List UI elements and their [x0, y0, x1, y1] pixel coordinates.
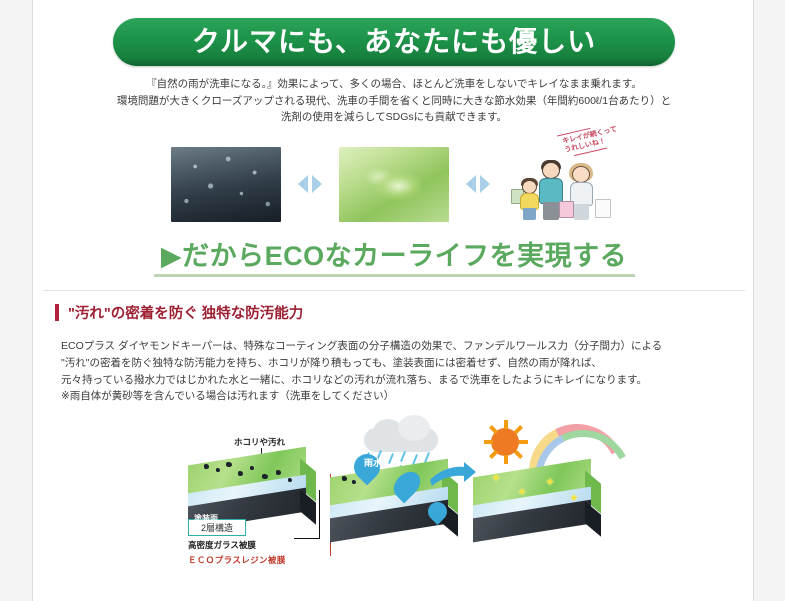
shopping-bag-white — [595, 199, 611, 218]
body-line-3: 元々持っている撥水力ではじかれた水と一緒に、ホコリなどの汚れが流れ落ち、まるで洗… — [61, 372, 741, 389]
section-divider — [43, 290, 745, 291]
diagram-panel-rain: 雨水 — [330, 428, 462, 588]
lead-paragraph: 『自然の雨が洗車になる。』効果によって、多くの場合、ほとんど洗車をしないでキレイ… — [33, 76, 754, 126]
section-body: ECOプラス ダイヤモンドキーパーは、特殊なコーティング表面の分子構造の効果で、… — [61, 338, 741, 405]
double-arrow-icon — [295, 171, 325, 197]
eco-headline-marker: ▶ — [161, 241, 182, 272]
banner-title: クルマにも、あなたにも優しい — [113, 18, 675, 66]
section-heading-text: "汚れ"の密着を防ぐ 独特な防汚能力 — [68, 302, 303, 323]
sparkle-icon-4: ✦ — [569, 492, 579, 504]
diagram-legend: 2層構造 高密度ガラス被膜 ＥＣＯプラスレジン被膜 — [188, 518, 338, 566]
eco-headline: ▶だからECOなカーライフを実現する — [33, 234, 754, 273]
body-line-2: "汚れ"の密着を防ぐ独特な防汚能力を持ち、ホコリが降り積もっても、塗装表面には密… — [61, 355, 741, 372]
photo-strip: キレイが続くって うれしいね！ — [33, 138, 754, 230]
section-heading: "汚れ"の密着を防ぐ 独特な防汚能力 — [55, 302, 303, 323]
rain-water-label: 雨水 — [364, 456, 382, 469]
body-line-4: ※雨自体が黄砂等を含んでいる場合は汚れます（洗車をしてください） — [61, 388, 741, 405]
diagram-panel-dust: ホコリや汚れ 塗装面 — [188, 428, 320, 588]
flow-arrow-icon — [430, 462, 476, 493]
body-line-1: ECOプラス ダイヤモンドキーパーは、特殊なコーティング表面の分子構造の効果で、… — [61, 338, 741, 355]
legend-glass-film: 高密度ガラス被膜 — [188, 539, 338, 551]
heading-accent-bar — [55, 304, 59, 321]
banner-container: クルマにも、あなたにも優しい — [33, 18, 754, 66]
lead-line-1: 『自然の雨が洗車になる。』効果によって、多くの場合、ほとんど洗車をしないでキレイ… — [33, 76, 754, 93]
photo-rain-on-paint — [171, 147, 281, 222]
family-figures — [511, 154, 615, 220]
legend-resin-film: ＥＣＯプラスレジン被膜 — [188, 554, 338, 566]
illustration-family: キレイが続くって うれしいね！ — [507, 147, 617, 222]
lead-line-2: 環境問題が大きくクローズアップされる現代、洗車の手間を省くと同時に大きな節水効果… — [33, 93, 754, 110]
eco-headline-text: だからECOなカーライフを実現する — [182, 234, 627, 273]
speech-bubble: キレイが続くって うれしいね！ — [562, 124, 620, 154]
sparkle-icon-1: ✦ — [491, 472, 501, 484]
page-root: クルマにも、あなたにも優しい 『自然の雨が洗車になる。』効果によって、多くの場合… — [0, 0, 785, 601]
sparkle-icon-3: ✦ — [545, 476, 555, 488]
content-sheet: クルマにも、あなたにも優しい 『自然の雨が洗車になる。』効果によって、多くの場合… — [32, 0, 754, 601]
eco-underline — [154, 274, 635, 277]
double-arrow-icon-2 — [463, 171, 493, 197]
lead-line-3: 洗剤の使用を減らしてSDGsにも貢献できます。 — [33, 109, 754, 126]
diagram-panel-clean: ✦ ✦ ✦ ✦ — [473, 428, 605, 588]
shopping-bag-pink — [559, 201, 574, 218]
coating-diagram: ホコリや汚れ 塗装面 — [188, 428, 608, 588]
rain-cloud-icon — [364, 428, 438, 452]
photo-green-leaves — [339, 147, 449, 222]
paint-surface-label: 塗装面 — [194, 513, 218, 524]
dust-label: ホコリや汚れ — [234, 436, 285, 448]
sparkle-icon-2: ✦ — [517, 486, 527, 498]
